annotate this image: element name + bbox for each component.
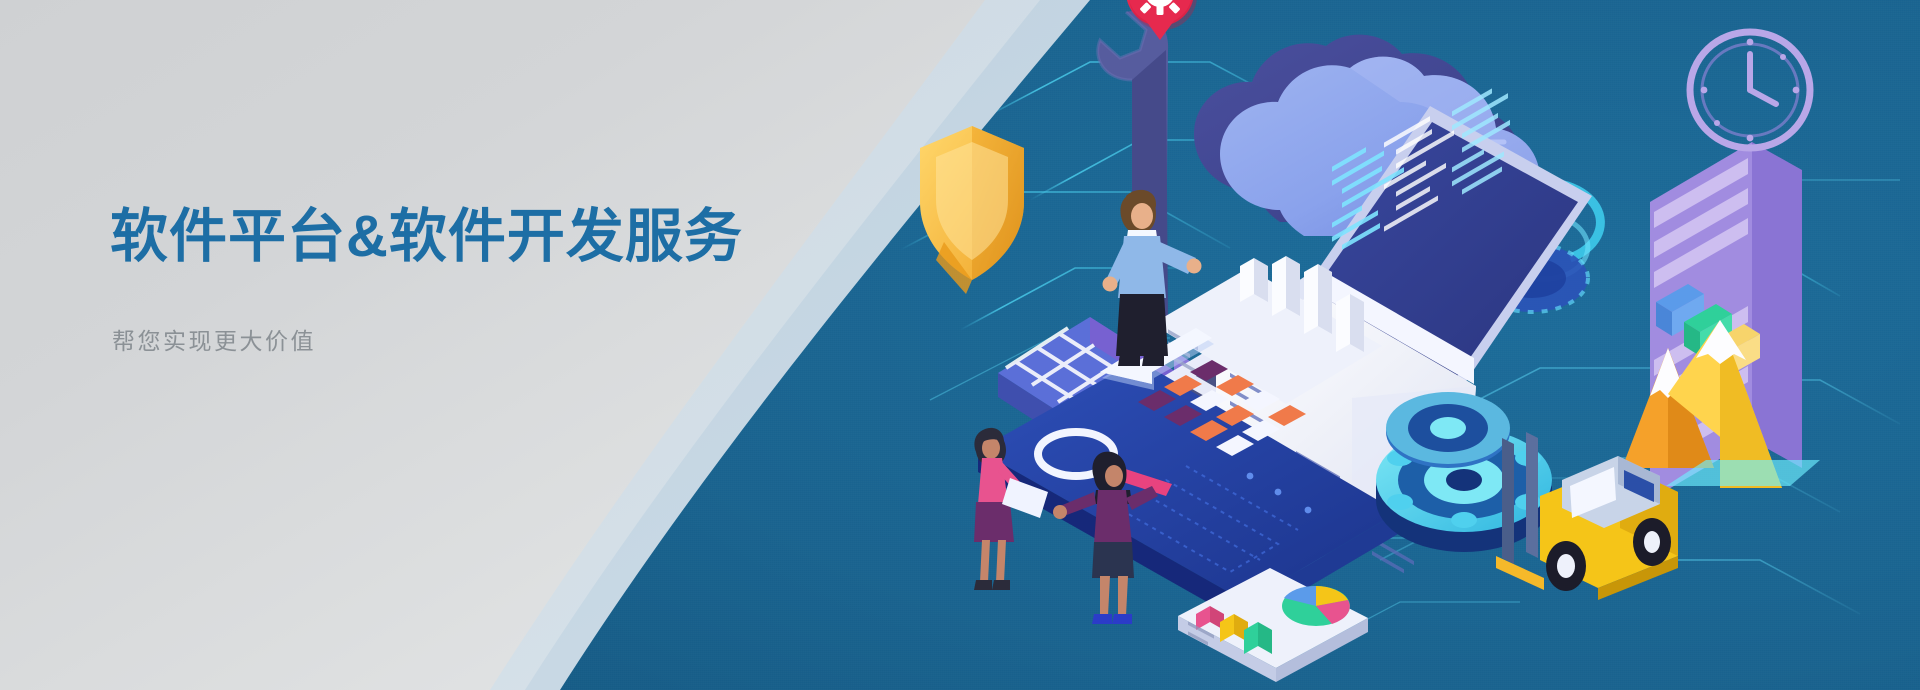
clock-icon	[1690, 32, 1810, 148]
gears	[1376, 392, 1552, 552]
pie-graphic	[1282, 586, 1350, 626]
page-subtitle: 帮您实现更大价值	[112, 322, 743, 356]
shield-icon	[920, 126, 1024, 294]
hero-illustration	[860, 0, 1920, 690]
page-title: 软件平台&软件开发服务	[110, 205, 743, 270]
hero-banner: 软件平台&软件开发服务 帮您实现更大价值	[0, 0, 1920, 690]
banner-text-block: 软件平台&软件开发服务 帮您实现更大价值	[110, 205, 743, 356]
